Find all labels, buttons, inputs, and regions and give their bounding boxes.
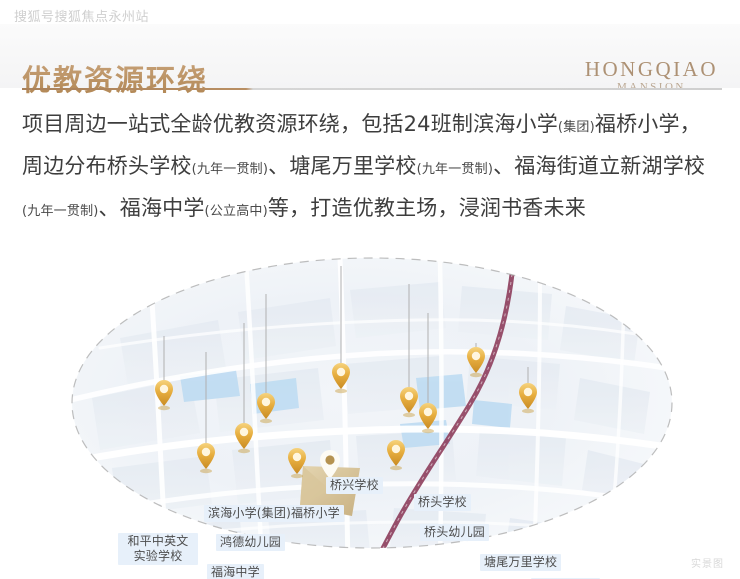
brand-name-main: HONGQIAO <box>585 58 718 80</box>
map-pin-markers[interactable] <box>0 228 740 579</box>
body-paragraph: 项目周边一站式全龄优教资源环绕，包括24班制滨海小学(集团)福桥小学，周边分布桥… <box>22 105 722 231</box>
paragraph-segment-10: 等，打造优教主场，浸润书香未来 <box>268 196 586 220</box>
paragraph-segment-0: 项目周边一站式全龄优教资源环绕，包括24班制滨海小学 <box>22 112 558 136</box>
pin-project-site[interactable] <box>320 450 340 479</box>
paragraph-segment-9: (公立高中) <box>205 204 268 219</box>
paragraph-segment-5: (九年一贯制) <box>417 162 494 177</box>
map-label-qiaotou-school[interactable]: 桥头学校 <box>414 494 471 511</box>
paragraph-segment-6: 、福海街道立新湖学校 <box>493 154 705 178</box>
sohu-watermark: 搜狐号搜狐焦点永州站 <box>14 6 149 25</box>
paragraph-segment-8: 、福海中学 <box>99 196 205 220</box>
pin-lixinhu-school[interactable] <box>519 383 537 413</box>
map-label-qiaotou-kindergarten[interactable]: 桥头幼儿园 <box>420 524 489 541</box>
map-label-binhai-fuqiao-primary[interactable]: 滨海小学(集团)福桥小学 <box>204 505 344 522</box>
paragraph-segment-4: 、塘尾万里学校 <box>268 154 416 178</box>
bottom-watermark: 实景图 <box>691 555 724 570</box>
pin-extra-left[interactable] <box>288 448 306 478</box>
pin-binhai-fuqiao-primary[interactable] <box>257 393 275 423</box>
page-title: 优教资源环绕 <box>22 57 208 99</box>
map-label-tangwei-wanli-school[interactable]: 塘尾万里学校 <box>480 554 561 571</box>
paragraph-segment-7: (九年一贯制) <box>22 204 99 219</box>
pin-hongde-kindergarten[interactable] <box>235 423 253 453</box>
pin-qiaoxing-school[interactable] <box>332 363 350 393</box>
paragraph-segment-1: (集团) <box>558 120 595 135</box>
map-label-hongde-kindergarten[interactable]: 鸿德幼儿园 <box>216 534 285 551</box>
map-label-fuhai-middle-school[interactable]: 福海中学 <box>207 564 264 579</box>
header-divider <box>22 88 722 90</box>
sohu-watermark-text: 搜狐号搜狐焦点永州站 <box>14 9 149 24</box>
location-map[interactable]: 和平中英文 实验学校 滨海小学(集团)福桥小学 桥兴学校 桥头学校 鸿德幼儿园 … <box>0 228 740 579</box>
map-label-qiaoxing-school[interactable]: 桥兴学校 <box>326 477 383 494</box>
paragraph-segment-3: (九年一贯制) <box>192 162 269 177</box>
pin-tangwei-wanli-school[interactable] <box>467 347 485 377</box>
pin-qiaotou-school[interactable] <box>400 387 418 417</box>
pin-extra-right[interactable] <box>387 440 405 470</box>
pin-fuhai-middle-school[interactable] <box>197 443 215 473</box>
pin-heping-school[interactable] <box>155 380 173 410</box>
page-header: 优教资源环绕 HONGQIAO MANSION <box>0 24 740 88</box>
pin-qiaotou-kindergarten[interactable] <box>419 403 437 433</box>
map-label-heping-school[interactable]: 和平中英文 实验学校 <box>118 533 198 565</box>
